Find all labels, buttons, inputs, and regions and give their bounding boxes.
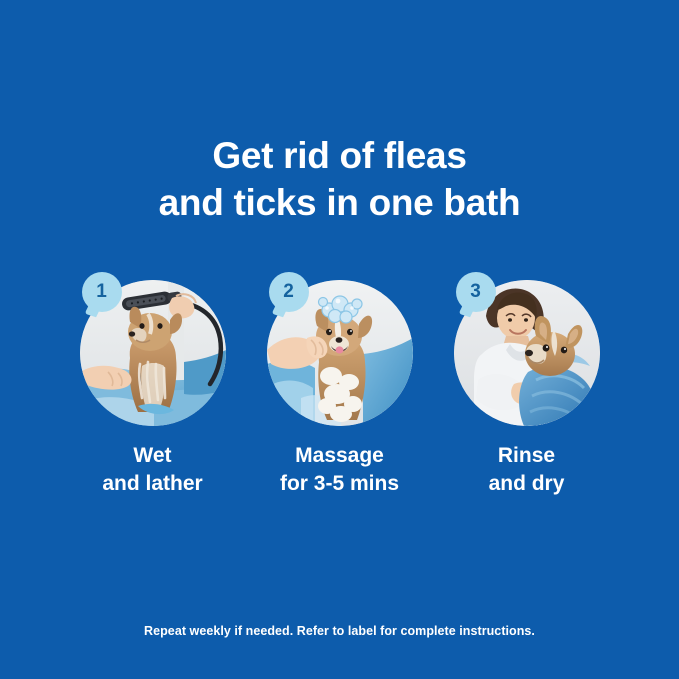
headline-line-2: and ticks in one bath (0, 179, 679, 226)
headline-line-1: Get rid of fleas (0, 132, 679, 179)
step-number-1: 1 (82, 272, 122, 312)
step-caption-2-line-2: for 3-5 mins (280, 470, 399, 498)
step-photo-wrap-2: 2 (267, 272, 413, 418)
step-number-3: 3 (456, 272, 496, 312)
step-number-2: 2 (269, 272, 309, 312)
step-caption-1: Wet and lather (102, 442, 202, 497)
step-item-3: 3 Rinse and dry (454, 272, 600, 497)
step-caption-2: Massage for 3-5 mins (280, 442, 399, 497)
step-badge-1: 1 (82, 272, 122, 312)
steps-row: 1 Wet and lather (0, 272, 679, 497)
step-item-1: 1 Wet and lather (80, 272, 226, 497)
step-photo-wrap-3: 3 (454, 272, 600, 418)
step-caption-3-line-2: and dry (489, 470, 565, 498)
step-caption-2-line-1: Massage (280, 442, 399, 470)
step-item-2: 2 Massage for 3-5 mins (267, 272, 413, 497)
page-title: Get rid of fleas and ticks in one bath (0, 132, 679, 227)
step-photo-wrap-1: 1 (80, 272, 226, 418)
footer-note: Repeat weekly if needed. Refer to label … (0, 624, 679, 638)
step-badge-2: 2 (269, 272, 309, 312)
step-badge-3: 3 (456, 272, 496, 312)
step-caption-3-line-1: Rinse (489, 442, 565, 470)
promo-poster: Get rid of fleas and ticks in one bath (0, 0, 679, 679)
step-caption-3: Rinse and dry (489, 442, 565, 497)
step-caption-1-line-1: Wet (102, 442, 202, 470)
step-caption-1-line-2: and lather (102, 470, 202, 498)
